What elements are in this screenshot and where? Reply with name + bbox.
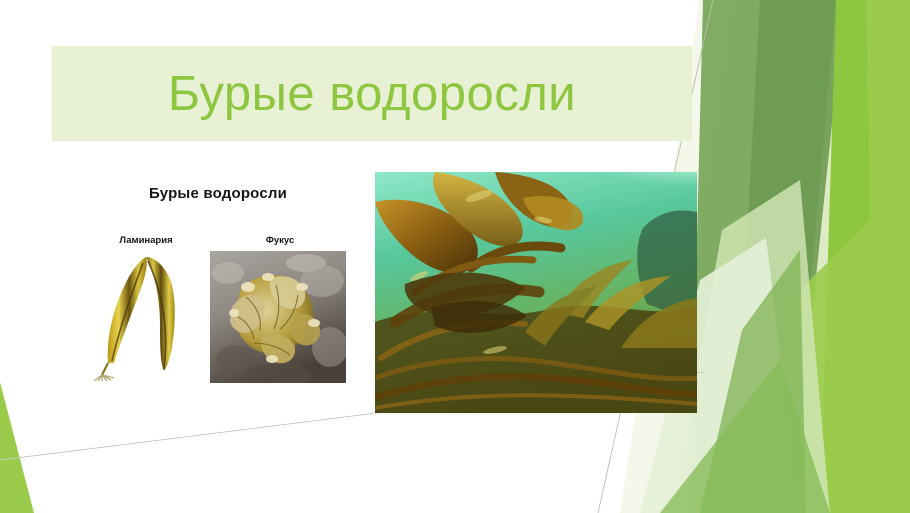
- kelp-forest-photo: [375, 172, 697, 413]
- decor-shape-right-bright-3: [760, 210, 910, 513]
- decor-shape-right-bright-2: [866, 0, 910, 513]
- label-laminaria: Ламинария: [96, 235, 196, 246]
- laminaria-holdfast: [94, 375, 114, 381]
- decor-shape-right-sage-2: [742, 0, 845, 430]
- page-title: Бурые водоросли: [52, 46, 692, 141]
- laminaria-blade-right: [146, 257, 175, 371]
- decor-shape-right-mid-1: [742, 0, 910, 513]
- decor-shape-right-bright-1: [820, 0, 910, 513]
- decor-shape-right-sage-1: [690, 0, 836, 513]
- laminaria-illustration: [88, 251, 198, 381]
- slide-canvas: Бурые водоросли Бурые водоросли Ламинари…: [0, 0, 910, 513]
- laminaria-stipe: [102, 363, 108, 375]
- decor-shape-bottom-left-wedge: [0, 382, 34, 513]
- left-figure-heading: Бурые водоросли: [78, 185, 358, 202]
- decor-shape-right-green-lobe: [700, 250, 806, 513]
- fucus-photo: [210, 251, 346, 383]
- left-figure-group: Бурые водоросли Ламинария Фукус: [78, 185, 358, 390]
- decor-shape-right-pale-2: [660, 0, 910, 513]
- label-fucus: Фукус: [230, 235, 330, 246]
